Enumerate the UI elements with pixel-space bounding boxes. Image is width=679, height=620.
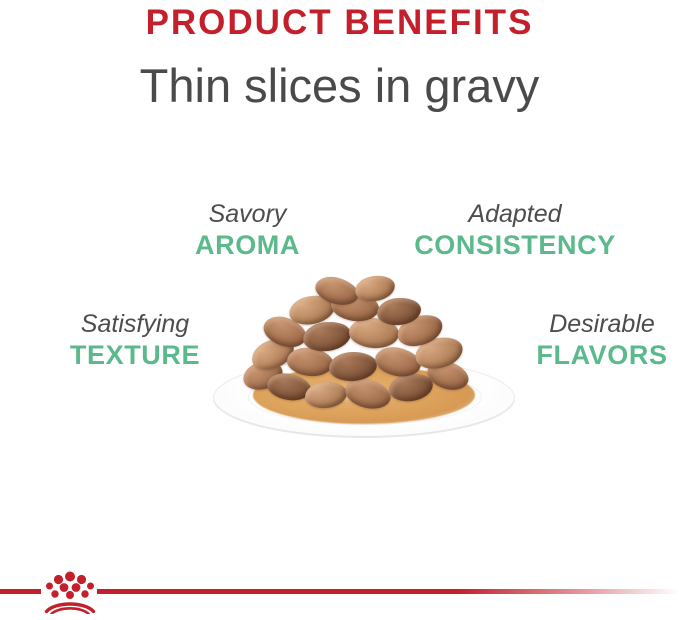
benefit-flavors: Desirable FLAVORS [528,310,676,371]
benefit-aroma: Savory AROMA [185,200,310,261]
benefit-consistency-label: CONSISTENCY [400,229,630,261]
benefit-flavors-adjective: Desirable [528,310,676,339]
benefit-aroma-label: AROMA [185,229,310,261]
benefit-texture: Satisfying TEXTURE [55,310,215,371]
benefit-texture-label: TEXTURE [55,339,215,371]
benefit-consistency: Adapted CONSISTENCY [400,200,630,261]
page-subtitle: Thin slices in gravy [0,56,679,116]
benefit-consistency-adjective: Adapted [400,200,630,229]
footer-brand-bar [0,560,679,620]
benefit-flavors-label: FLAVORS [528,339,676,371]
product-benefits-panel: PRODUCT BENEFITS Thin slices in gravy Sa… [0,0,679,620]
benefit-texture-adjective: Satisfying [55,310,215,339]
page-title: PRODUCT BENEFITS [0,2,679,44]
product-image [205,270,520,445]
divider-left [0,589,41,594]
divider-right [97,589,679,594]
benefit-aroma-adjective: Savory [185,200,310,229]
royal-canin-crown-logo [43,570,97,614]
